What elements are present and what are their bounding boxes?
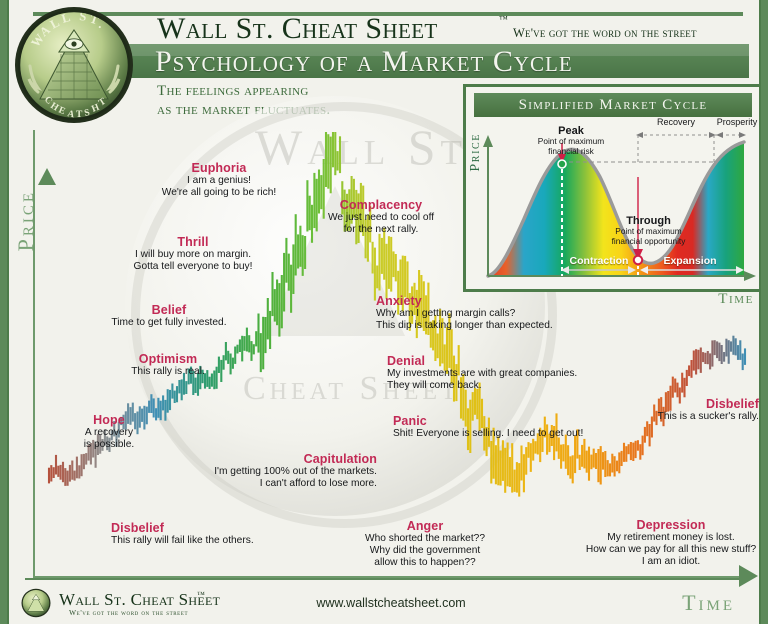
annotation-hope-body-1: is possible. bbox=[69, 439, 149, 451]
inset-phase-expansion: Expansion bbox=[654, 255, 726, 267]
annotation-complacency-body-0: We just need to cool off bbox=[307, 212, 455, 224]
annotation-denial: Denial My investments are with great com… bbox=[387, 354, 667, 392]
annotation-anger-body-1: Why did the government bbox=[337, 545, 513, 557]
footer-rule bbox=[25, 578, 749, 580]
annotation-depression: Depression My retirement money is lost. … bbox=[573, 518, 768, 569]
annotation-depression-body-1: How can we pay for all this new stuff? bbox=[573, 544, 768, 556]
subtitle-line-1: The feelings appearing bbox=[157, 82, 457, 101]
footer-seal-icon bbox=[21, 588, 51, 618]
annotation-complacency-heading: Complacency bbox=[307, 198, 455, 212]
annotation-belief-body-0: Time to get fully invested. bbox=[93, 317, 245, 329]
annotation-depression-body-2: I am an idiot. bbox=[573, 556, 768, 568]
annotation-capitulation-body-1: I can't afford to lose more. bbox=[197, 478, 377, 490]
annotation-disbelief-1-body-0: This rally will fail like the others. bbox=[111, 535, 341, 547]
annotation-belief-heading: Belief bbox=[93, 303, 245, 317]
inset-title: Simplified Market Cycle bbox=[474, 93, 752, 117]
annotation-hope: Hope A recovery is possible. bbox=[69, 413, 149, 451]
annotation-belief: Belief Time to get fully invested. bbox=[93, 303, 245, 329]
inset-price-axis-label: Price bbox=[468, 133, 484, 172]
annotation-anger-heading: Anger bbox=[337, 519, 513, 533]
annotation-disbelief-2: Disbelief This is a sucker's rally. bbox=[587, 397, 759, 423]
annotation-euphoria-body-1: We're all going to be rich! bbox=[153, 187, 285, 199]
annotation-depression-body-0: My retirement money is lost. bbox=[573, 532, 768, 544]
annotation-thrill-body-0: I will buy more on margin. bbox=[123, 249, 263, 261]
inset-phase-prosperity: Prosperity bbox=[709, 117, 765, 127]
page-title: Psychology of a Market Cycle bbox=[155, 45, 768, 78]
inset-peak-label: Peak Point of maximum financial risk bbox=[506, 125, 636, 156]
inset-time-axis-label: Time bbox=[718, 291, 754, 308]
infographic-poster: Wall St. Cheat Sheet ™ We've got the wor… bbox=[0, 0, 768, 624]
footer-website-url[interactable]: www.wallstcheatsheet.com bbox=[7, 596, 768, 610]
annotation-disbelief-2-heading: Disbelief bbox=[587, 397, 759, 411]
annotation-complacency-body-1: for the next rally. bbox=[307, 224, 455, 236]
annotation-anger-body-2: allow this to happen?? bbox=[337, 557, 513, 569]
annotation-thrill-heading: Thrill bbox=[123, 235, 263, 249]
annotation-euphoria-heading: Euphoria bbox=[153, 161, 285, 175]
annotation-thrill-body-1: Gotta tell everyone to buy! bbox=[123, 261, 263, 273]
annotation-denial-body-0: My investments are with great companies. bbox=[387, 368, 667, 380]
annotation-denial-body-1: They will come back. bbox=[387, 380, 667, 392]
annotation-anger: Anger Who shorted the market?? Why did t… bbox=[337, 519, 513, 570]
inset-phase-contraction: Contraction bbox=[566, 255, 632, 267]
inset-phase-recovery: Recovery bbox=[641, 117, 711, 127]
annotation-hope-body-0: A recovery bbox=[69, 427, 149, 439]
annotation-anxiety-body-1: This dip is taking longer than expected. bbox=[376, 320, 636, 332]
annotation-anger-body-0: Who shorted the market?? bbox=[337, 533, 513, 545]
annotation-complacency: Complacency We just need to cool off for… bbox=[307, 198, 455, 236]
annotation-disbelief-1-heading: Disbelief bbox=[111, 521, 341, 535]
inset-peak-body-1: financial risk bbox=[506, 147, 636, 157]
annotation-anxiety: Anxiety Why am I getting margin calls? T… bbox=[376, 294, 636, 332]
annotation-disbelief-2-body-0: This is a sucker's rally. bbox=[587, 411, 759, 423]
annotation-panic-body-0: Shit! Everyone is selling. I need to get… bbox=[393, 428, 683, 440]
annotation-euphoria-body-0: I am a genius! bbox=[153, 175, 285, 187]
inset-trough-label: Through Point of maximum financial oppor… bbox=[586, 215, 711, 246]
annotation-capitulation-body-0: I'm getting 100% out of the markets. bbox=[197, 466, 377, 478]
simplified-market-cycle-inset: Simplified Market Cycle bbox=[463, 84, 763, 292]
annotation-euphoria: Euphoria I am a genius! We're all going … bbox=[153, 161, 285, 199]
wall-st-cheat-sheet-seal-icon: W A L L S T . C H E A T S H T bbox=[13, 4, 135, 126]
annotation-disbelief-1: Disbelief This rally will fail like the … bbox=[111, 521, 341, 547]
annotation-capitulation-heading: Capitulation bbox=[197, 452, 377, 466]
annotation-optimism-body-0: This rally is real. bbox=[111, 366, 225, 378]
annotation-optimism: Optimism This rally is real. bbox=[111, 352, 225, 378]
time-axis-label: Time bbox=[682, 590, 735, 616]
annotation-anxiety-body-0: Why am I getting margin calls? bbox=[376, 308, 636, 320]
annotation-anxiety-heading: Anxiety bbox=[376, 294, 636, 308]
brand-tagline: We've got the word on the street bbox=[513, 26, 768, 41]
annotation-depression-heading: Depression bbox=[573, 518, 768, 532]
annotation-capitulation: Capitulation I'm getting 100% out of the… bbox=[197, 452, 377, 490]
annotation-thrill: Thrill I will buy more on margin. Gotta … bbox=[123, 235, 263, 273]
inset-trough-body-1: financial opportunity bbox=[586, 237, 711, 247]
inset-title-band: Simplified Market Cycle bbox=[474, 93, 752, 117]
annotation-denial-heading: Denial bbox=[387, 354, 667, 368]
brand-trademark-icon: ™ bbox=[499, 14, 508, 24]
annotation-hope-heading: Hope bbox=[69, 413, 149, 427]
annotation-optimism-heading: Optimism bbox=[111, 352, 225, 366]
